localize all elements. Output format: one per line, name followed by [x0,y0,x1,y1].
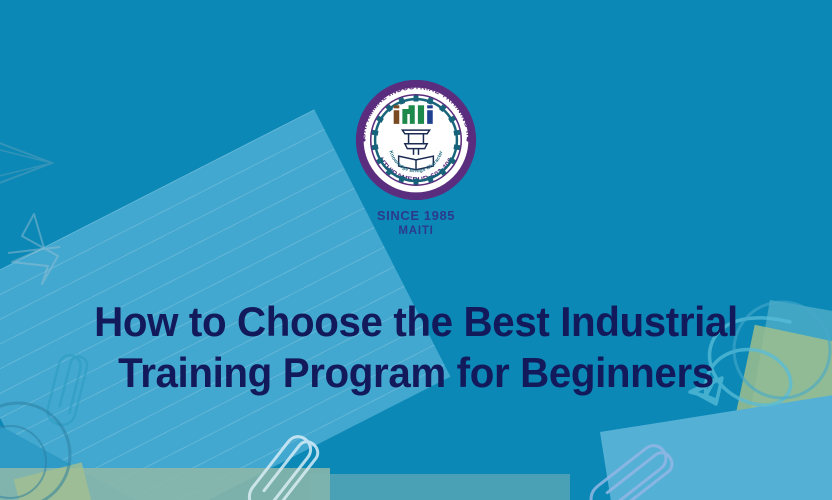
headline-line-1: How to Choose the Best Industrial [51,296,781,347]
logo-abbreviation: MAITI [398,225,433,237]
circle-doodle [0,403,70,500]
paperclip-blue [585,440,676,500]
headline-line-2: Training Program for Beginners [51,347,781,398]
institute-logo: MEENAKSHI AMMAL INDUSTRIAL TRAINING INST… [0,78,832,237]
logo-since-text: SINCE 1985 [377,208,455,223]
decorative-doodles [0,0,832,500]
paperclip-white [243,431,322,500]
institute-emblem: MEENAKSHI AMMAL INDUSTRIAL TRAINING INST… [354,78,478,202]
article-banner: MEENAKSHI AMMAL INDUSTRIAL TRAINING INST… [0,0,832,500]
page-title: How to Choose the Best Industrial Traini… [51,296,781,398]
